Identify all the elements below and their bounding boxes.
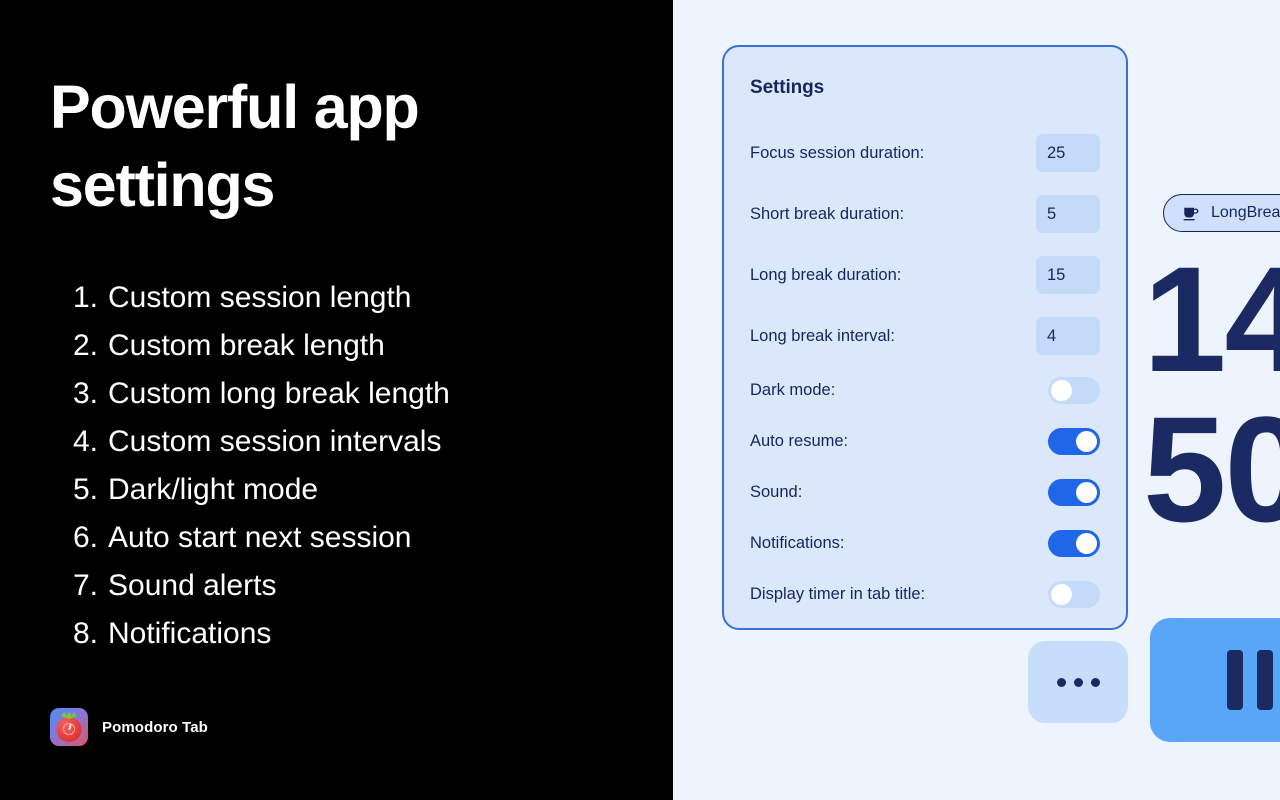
list-item: 7. Sound alerts [56, 562, 616, 610]
toggle-knob [1076, 533, 1097, 554]
setting-label: Focus session duration: [750, 144, 924, 163]
list-item-label: Auto start next session [108, 514, 412, 562]
setting-label: Sound: [750, 483, 802, 502]
setting-row-auto-resume: Auto resume: [750, 423, 1100, 459]
list-item-number: 2. [56, 322, 98, 370]
setting-row-short-break-duration: Short break duration: [750, 189, 1100, 239]
setting-label: Auto resume: [750, 432, 848, 451]
list-item: 6. Auto start next session [56, 514, 616, 562]
sound-toggle[interactable] [1048, 479, 1100, 506]
list-item-number: 7. [56, 562, 98, 610]
setting-row-long-break-duration: Long break duration: [750, 250, 1100, 300]
setting-label: Long break duration: [750, 266, 901, 285]
auto-resume-toggle[interactable] [1048, 428, 1100, 455]
more-options-button[interactable] [1028, 641, 1128, 723]
setting-label: Dark mode: [750, 381, 835, 400]
list-item-label: Custom long break length [108, 370, 450, 418]
list-item: 8. Notifications [56, 610, 616, 658]
list-item-label: Notifications [108, 610, 271, 658]
ellipsis-icon [1074, 678, 1083, 687]
feature-list: 1. Custom session length 2. Custom break… [56, 274, 616, 658]
settings-card: Settings Focus session duration: Short b… [722, 45, 1128, 630]
toggle-knob [1076, 482, 1097, 503]
timer-mode-badge[interactable]: LongBreak [1163, 194, 1280, 232]
setting-row-display-timer-in-tab-title: Display timer in tab title: [750, 576, 1100, 612]
setting-row-focus-session-duration: Focus session duration: [750, 128, 1100, 178]
list-item: 2. Custom break length [56, 322, 616, 370]
list-item-number: 5. [56, 466, 98, 514]
focus-session-duration-input[interactable] [1036, 134, 1100, 172]
ellipsis-icon [1057, 678, 1066, 687]
display-timer-in-tab-title-toggle[interactable] [1048, 581, 1100, 608]
brand-name: Pomodoro Tab [102, 719, 208, 736]
setting-row-long-break-interval: Long break interval: [750, 311, 1100, 361]
settings-title: Settings [750, 77, 1100, 99]
short-break-duration-input[interactable] [1036, 195, 1100, 233]
app-preview-panel: Settings Focus session duration: Short b… [673, 0, 1280, 800]
setting-label: Notifications: [750, 534, 844, 553]
timer-minutes: 14 [1143, 255, 1280, 383]
list-item-label: Custom break length [108, 322, 385, 370]
setting-row-sound: Sound: [750, 474, 1100, 510]
dark-mode-toggle[interactable] [1048, 377, 1100, 404]
notifications-toggle[interactable] [1048, 530, 1100, 557]
list-item-number: 8. [56, 610, 98, 658]
timer-mode-label: LongBreak [1211, 204, 1280, 222]
toggle-knob [1051, 380, 1072, 401]
page-title: Powerful app settings [50, 68, 590, 224]
list-item: 5. Dark/light mode [56, 466, 616, 514]
long-break-interval-input[interactable] [1036, 317, 1100, 355]
setting-row-notifications: Notifications: [750, 525, 1100, 561]
list-item-label: Dark/light mode [108, 466, 318, 514]
list-item-number: 3. [56, 370, 98, 418]
tomato-clock-icon [50, 708, 88, 746]
list-item-number: 6. [56, 514, 98, 562]
setting-label: Short break duration: [750, 205, 904, 224]
ellipsis-icon [1091, 678, 1100, 687]
list-item: 4. Custom session intervals [56, 418, 616, 466]
list-item-number: 1. [56, 274, 98, 322]
timer-seconds: 50 [1143, 405, 1280, 533]
coffee-cup-icon [1182, 204, 1200, 222]
left-hero-panel: Powerful app settings 1. Custom session … [0, 0, 673, 800]
pause-icon [1257, 650, 1273, 710]
list-item: 1. Custom session length [56, 274, 616, 322]
long-break-duration-input[interactable] [1036, 256, 1100, 294]
setting-label: Long break interval: [750, 327, 895, 346]
brand: Pomodoro Tab [50, 708, 208, 746]
toggle-knob [1051, 584, 1072, 605]
list-item-label: Custom session intervals [108, 418, 441, 466]
pause-icon [1227, 650, 1243, 710]
pause-button[interactable] [1150, 618, 1280, 742]
setting-label: Display timer in tab title: [750, 585, 925, 604]
list-item-number: 4. [56, 418, 98, 466]
list-item: 3. Custom long break length [56, 370, 616, 418]
toggle-knob [1076, 431, 1097, 452]
setting-row-dark-mode: Dark mode: [750, 372, 1100, 408]
list-item-label: Custom session length [108, 274, 412, 322]
list-item-label: Sound alerts [108, 562, 276, 610]
